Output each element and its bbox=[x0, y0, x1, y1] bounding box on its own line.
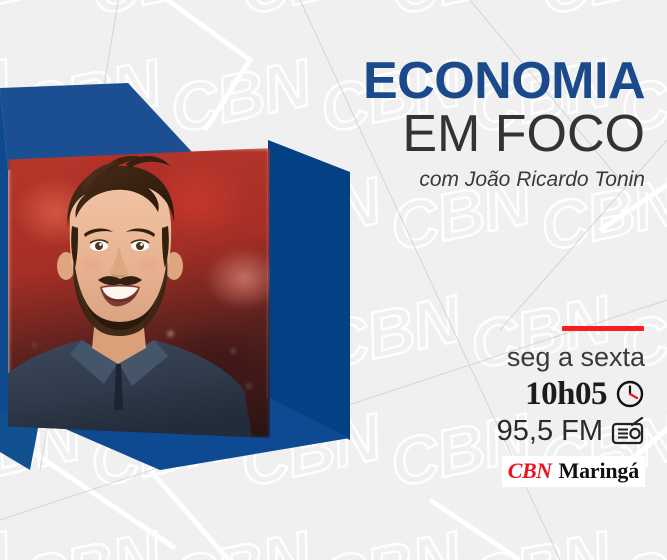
broadcast-frequency: 95,5 FM bbox=[497, 416, 603, 446]
broadcast-info-block: seg a sexta 10h05 95,5 FM CBN bbox=[345, 326, 645, 487]
title-em-foco: EM FOCO bbox=[305, 107, 645, 162]
host-credit: com João Ricardo Tonin bbox=[305, 164, 645, 196]
portrait-illustration bbox=[8, 148, 270, 438]
broadcast-time-row: 10h05 bbox=[345, 377, 645, 412]
title-economia: ECONOMIA bbox=[305, 56, 645, 107]
program-title-block: ECONOMIA EM FOCO com João Ricardo Tonin bbox=[305, 56, 645, 196]
radio-icon bbox=[611, 416, 645, 446]
broadcast-days: seg a sexta bbox=[345, 342, 645, 373]
clock-icon bbox=[615, 379, 645, 409]
broadcast-frequency-row: 95,5 FM bbox=[345, 416, 645, 446]
city-name: Maringá bbox=[559, 458, 639, 484]
cbn-maringa-logo: CBN Maringá bbox=[502, 456, 645, 487]
station-logo-wrapper: CBN Maringá bbox=[345, 446, 645, 487]
promo-graphic-canvas: CBNCBNCBNCBNCBNCBNCBNCBNCBNCBNCBNCBNCBNC… bbox=[0, 0, 667, 560]
broadcast-time: 10h05 bbox=[525, 377, 607, 412]
host-photo bbox=[8, 148, 270, 438]
red-divider-rule bbox=[562, 326, 644, 331]
cbn-wordmark: CBN bbox=[508, 458, 552, 484]
